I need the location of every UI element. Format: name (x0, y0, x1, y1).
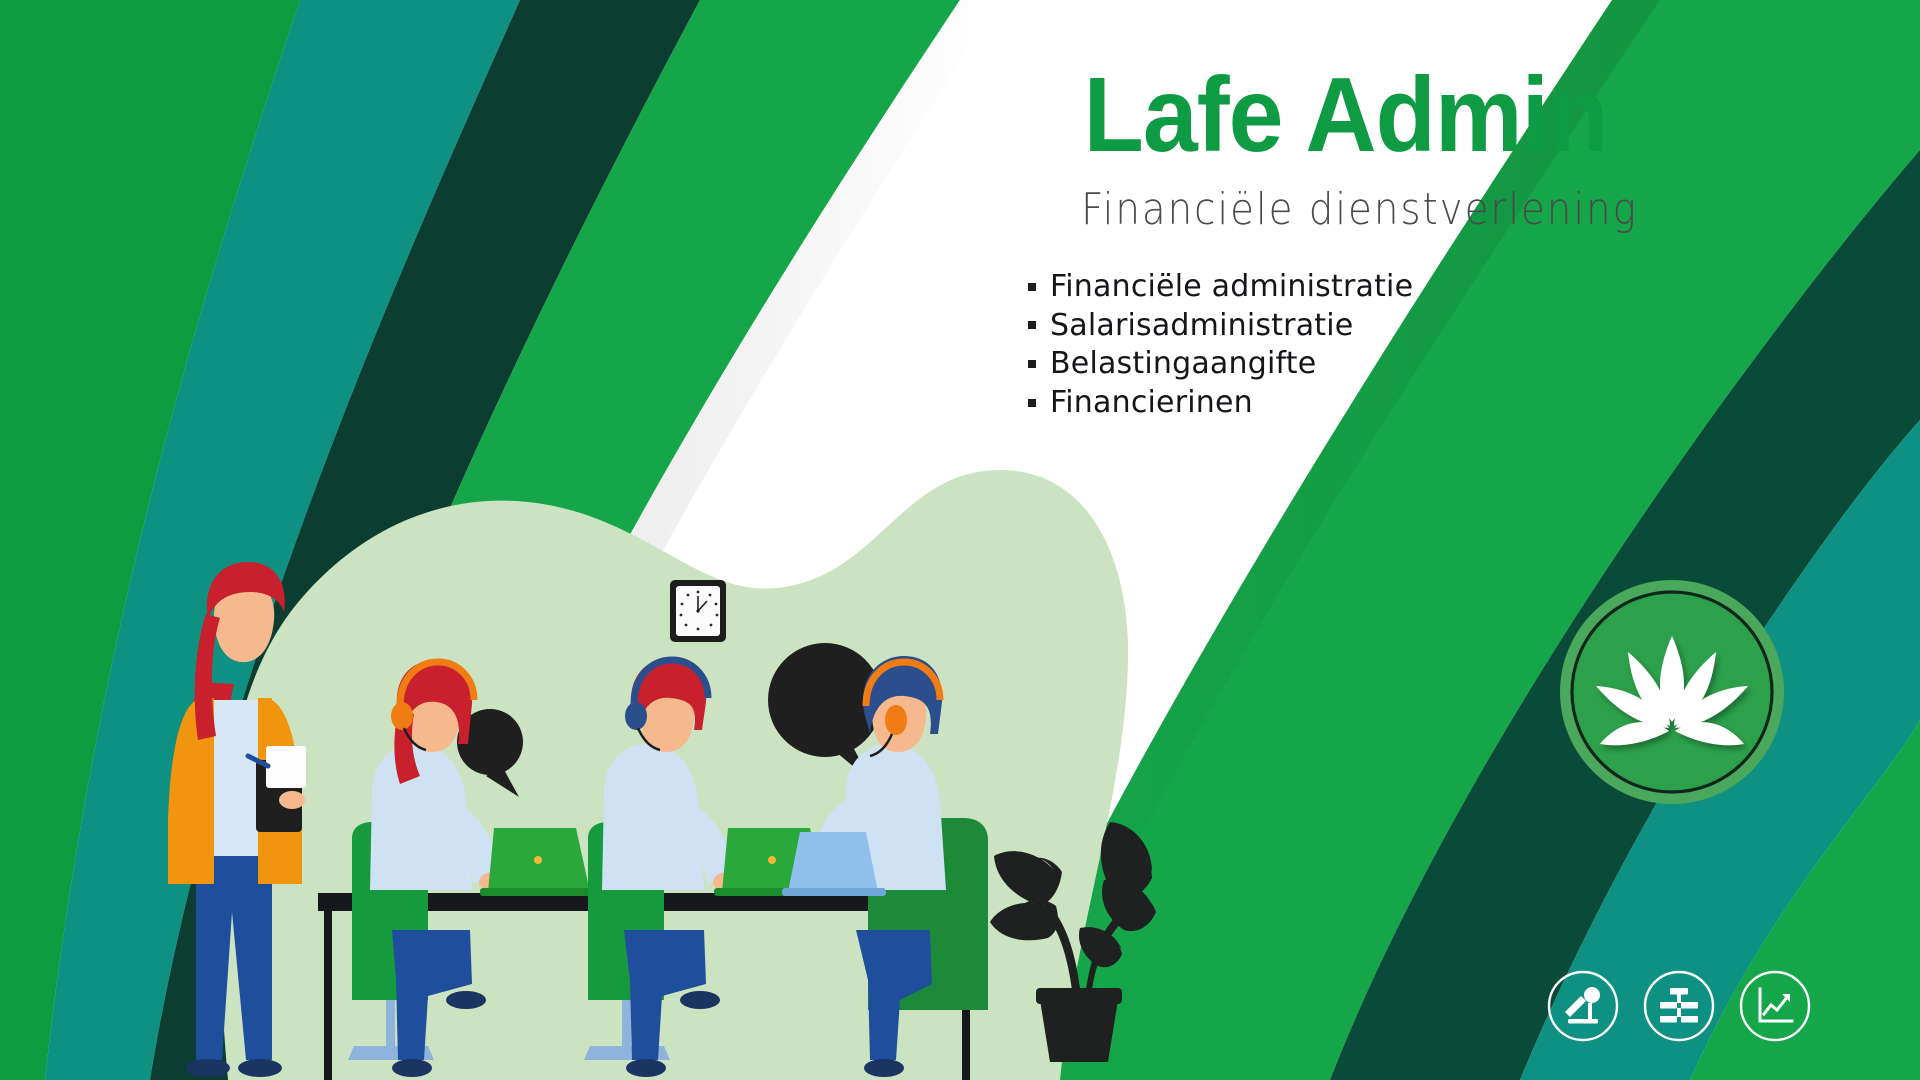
list-item: Belastingaangifte (1028, 347, 1720, 381)
org-chart-icon[interactable] (1642, 969, 1716, 1043)
wall-clock (670, 580, 726, 642)
page-subtitle: Financiële dienstverlening (1020, 186, 1699, 234)
services-list: Financiële administratie Salarisadminist… (1028, 270, 1720, 419)
slide-canvas: Lafe Admin Financiële dienstverlening Fi… (0, 0, 1920, 1080)
leaf-rosette-logo (1556, 576, 1788, 808)
page-title: Lafe Admin (1020, 62, 1671, 168)
service-label: Belastingaangifte (1050, 347, 1316, 381)
bullet-icon (1028, 283, 1036, 291)
microphone-icon[interactable] (1546, 969, 1620, 1043)
growth-chart-icon[interactable] (1738, 969, 1812, 1043)
headline-block: Lafe Admin Financiële dienstverlening Fi… (1020, 62, 1720, 424)
bullet-icon (1028, 360, 1036, 368)
bullet-icon (1028, 399, 1036, 407)
list-item: Salarisadministratie (1028, 309, 1720, 343)
list-item: Financierinen (1028, 386, 1720, 420)
bullet-icon (1028, 321, 1036, 329)
service-label: Financierinen (1050, 386, 1253, 420)
service-label: Financiële administratie (1050, 270, 1413, 304)
list-item: Financiële administratie (1028, 270, 1720, 304)
service-icons-row (1546, 960, 1856, 1052)
service-label: Salarisadministratie (1050, 309, 1353, 343)
